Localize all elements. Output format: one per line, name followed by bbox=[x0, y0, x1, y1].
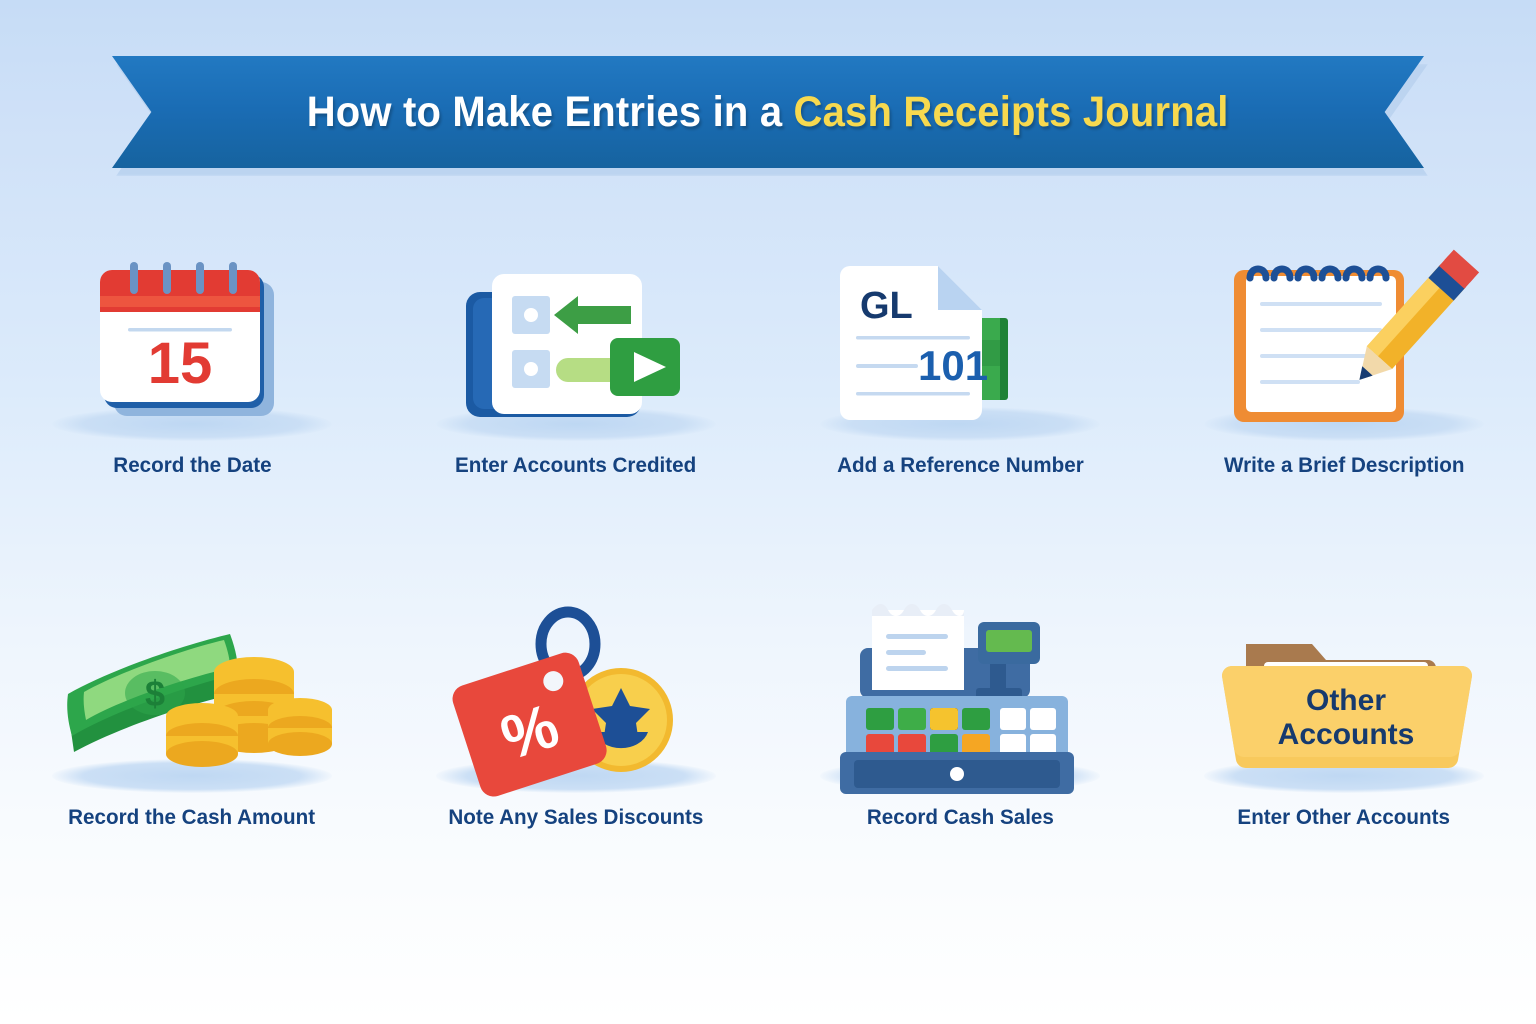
steps-row-1: 15 Record the Date bbox=[0, 240, 1536, 478]
page-title: How to Make Entries in a Cash Receipts J… bbox=[307, 88, 1229, 137]
notepad-pencil-icon bbox=[1194, 240, 1494, 445]
page-title-primary: How to Make Entries in a bbox=[307, 88, 794, 136]
step-label: Record the Cash Amount bbox=[69, 805, 316, 830]
step-item-note-any-sales-discounts[interactable]: % Note Any Sales Discounts bbox=[384, 592, 768, 830]
folder-title-line1: Other bbox=[1306, 684, 1386, 717]
step-label: Write a Brief Description bbox=[1224, 453, 1464, 478]
gl-document-icon: GL 101 bbox=[810, 240, 1110, 445]
step-item-enter-accounts-credited[interactable]: Enter Accounts Credited bbox=[384, 240, 768, 478]
discount-tag-icon: % bbox=[426, 592, 726, 797]
svg-text:$: $ bbox=[145, 673, 165, 714]
calendar-icon: 15 bbox=[42, 240, 342, 445]
step-label: Record Cash Sales bbox=[867, 805, 1054, 830]
folder-icon: Other Accounts bbox=[1194, 592, 1494, 797]
accounts-card-icon bbox=[426, 240, 726, 445]
step-label: Note Any Sales Discounts bbox=[448, 805, 703, 830]
svg-text:15: 15 bbox=[148, 331, 213, 396]
step-label: Add a Reference Number bbox=[837, 453, 1084, 478]
step-item-record-the-date[interactable]: 15 Record the Date bbox=[0, 240, 384, 478]
step-item-enter-other-accounts[interactable]: Other Accounts Enter Other Accounts bbox=[1152, 592, 1536, 830]
cash-register-icon bbox=[810, 592, 1110, 797]
folder-title-line2: Accounts bbox=[1278, 718, 1415, 751]
step-item-record-cash-sales[interactable]: Record Cash Sales bbox=[768, 592, 1152, 830]
reference-number-label: 101 bbox=[918, 342, 988, 389]
cash-coins-icon: $ bbox=[42, 592, 342, 797]
step-label: Enter Accounts Credited bbox=[455, 453, 696, 478]
ribbon-banner: How to Make Entries in a Cash Receipts J… bbox=[112, 56, 1424, 168]
gl-label: GL bbox=[860, 285, 913, 327]
page-title-accent: Cash Receipts Journal bbox=[794, 88, 1229, 136]
step-label: Enter Other Accounts bbox=[1238, 805, 1451, 830]
steps-row-2: $ bbox=[0, 592, 1536, 830]
title-ribbon: How to Make Entries in a Cash Receipts J… bbox=[0, 56, 1536, 176]
step-label: Record the Date bbox=[113, 453, 271, 478]
step-item-add-a-reference-number[interactable]: GL 101 Add a Reference Number bbox=[768, 240, 1152, 478]
step-item-record-the-cash-amount[interactable]: $ bbox=[0, 592, 384, 830]
infographic-root: How to Make Entries in a Cash Receipts J… bbox=[0, 0, 1536, 1024]
step-item-write-a-brief-description[interactable]: Write a Brief Description bbox=[1152, 240, 1536, 478]
